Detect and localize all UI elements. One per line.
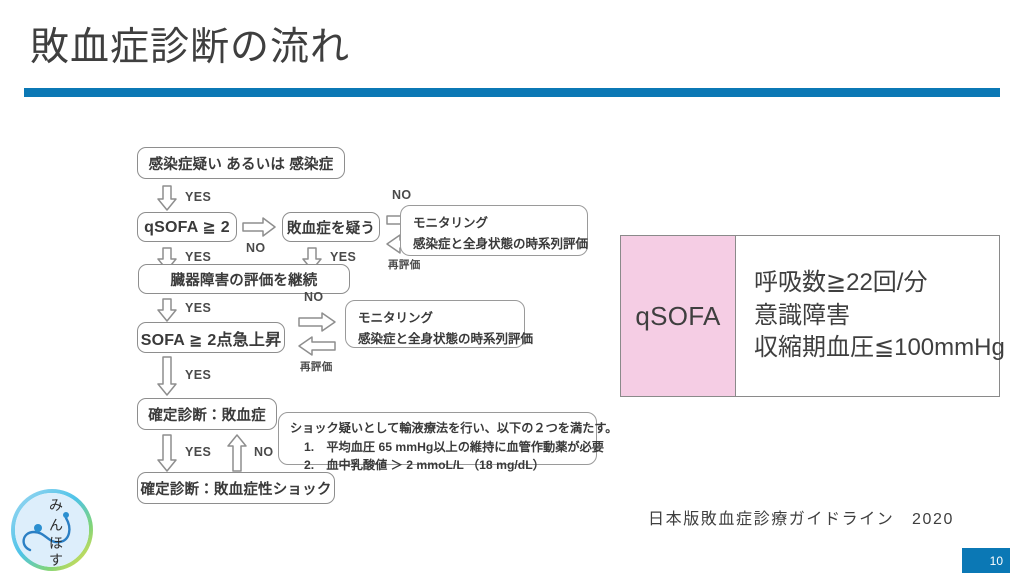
qsofa-criterion-systolic-bp: 収縮期血圧≦100mmHg <box>754 332 1005 365</box>
label-yes-3: YES <box>330 250 356 264</box>
label-no-3: NO <box>304 290 324 304</box>
arrow-right-3 <box>298 312 336 332</box>
flow-node-diagnosis-septic-shock: 確定診断：敗血症性ショック <box>137 472 335 504</box>
logo-char-3: ほ <box>49 536 63 552</box>
logo-char-2: ん <box>49 518 63 534</box>
qsofa-table-label-cell: qSOFA <box>621 236 736 396</box>
panel-monitoring-2: モニタリング 感染症と全身状態の時系列評価 <box>345 300 525 348</box>
panel-monitoring-1-line2: 感染症と全身状態の時系列評価 <box>413 234 575 255</box>
logo-char-1: み <box>49 498 63 514</box>
flow-node-qsofa-threshold: qSOFA ≧ 2 <box>137 212 237 242</box>
flow-node-diagnosis-sepsis: 確定診断：敗血症 <box>137 398 277 430</box>
arrow-left-2 <box>298 336 336 356</box>
title-underline-rule <box>24 88 1000 97</box>
label-reevaluate-2: 再評価 <box>300 359 333 374</box>
label-yes-5: YES <box>185 368 211 382</box>
minhos-logo: み ん ほ す <box>8 488 100 572</box>
panel-monitoring-1-line1: モニタリング <box>413 213 575 234</box>
qsofa-criteria-table: qSOFA 呼吸数≧22回/分 意識障害 収縮期血圧≦100mmHg <box>620 235 1000 397</box>
panel-monitoring-2-line2: 感染症と全身状態の時系列評価 <box>358 329 512 350</box>
arrow-up-1 <box>227 434 247 472</box>
arrow-down-4 <box>157 298 177 322</box>
arrow-down-6 <box>157 434 177 472</box>
logo-circle-icon: み ん ほ す <box>8 488 100 572</box>
label-no-1: NO <box>246 241 266 255</box>
label-reevaluate-1: 再評価 <box>388 257 421 272</box>
label-no-2: NO <box>392 188 412 202</box>
label-yes-4: YES <box>185 301 211 315</box>
label-yes-1: YES <box>185 190 211 204</box>
panel-monitoring-1: モニタリング 感染症と全身状態の時系列評価 <box>400 205 588 256</box>
page-number-badge: 10 <box>962 548 1010 573</box>
panel-shock-criteria: ショック疑いとして輸液療法を行い、以下の２つを満たす。 1. 平均血圧 65 m… <box>278 412 597 465</box>
label-yes-2: YES <box>185 250 211 264</box>
qsofa-table-criteria-cell: 呼吸数≧22回/分 意識障害 収縮期血圧≦100mmHg <box>736 236 1005 396</box>
flow-node-suspect-sepsis: 敗血症を疑う <box>282 212 380 242</box>
arrow-down-1 <box>157 185 177 211</box>
qsofa-criterion-respiratory-rate: 呼吸数≧22回/分 <box>754 267 1005 300</box>
flow-node-sofa-increase: SOFA ≧ 2点急上昇 <box>137 322 285 353</box>
flow-node-infection-suspected: 感染症疑い あるいは 感染症 <box>137 147 345 179</box>
arrow-right-1 <box>242 217 276 237</box>
shock-criteria-heading: ショック疑いとして輸液療法を行い、以下の２つを満たす。 <box>290 419 585 438</box>
slide-canvas: 敗血症診断の流れ 感染症疑い あるいは 感染症 YES qSOFA ≧ 2 NO… <box>0 0 1024 575</box>
panel-monitoring-2-line1: モニタリング <box>358 308 512 329</box>
source-citation: 日本版敗血症診療ガイドライン 2020 <box>648 505 954 529</box>
sepsis-diagnosis-flowchart: 感染症疑い あるいは 感染症 YES qSOFA ≧ 2 NO 敗血症を疑う N… <box>130 140 610 510</box>
shock-criteria-item-2: 2. 血中乳酸値 ＞ 2 mmoL/L （18 mg/dL） <box>290 456 585 475</box>
label-yes-6: YES <box>185 445 211 459</box>
logo-char-4: す <box>49 553 63 569</box>
page-title: 敗血症診断の流れ <box>30 22 350 74</box>
shock-criteria-item-1: 1. 平均血圧 65 mmHg以上の維持に血管作動薬が必要 <box>290 438 585 457</box>
label-no-4: NO <box>254 445 274 459</box>
arrow-down-5 <box>157 356 177 396</box>
qsofa-criterion-altered-consciousness: 意識障害 <box>754 300 1005 333</box>
